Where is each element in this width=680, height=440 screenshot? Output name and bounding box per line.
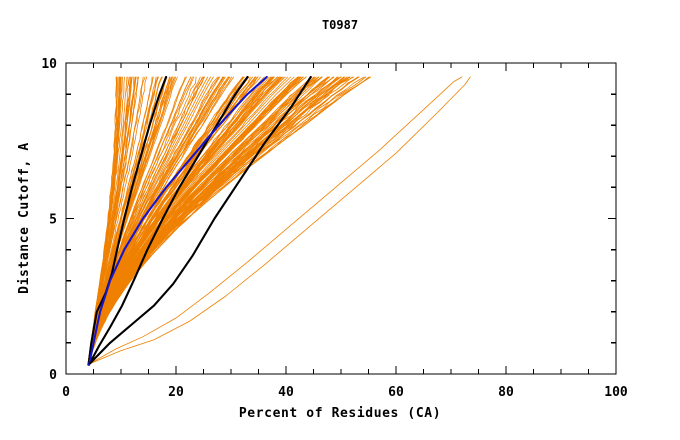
distance-cutoff-plot: T0987 0204060801000510 Percent of Residu… bbox=[0, 0, 680, 440]
x-tick-label: 0 bbox=[62, 385, 70, 400]
x-tick-label: 100 bbox=[604, 385, 628, 400]
x-tick-label: 20 bbox=[168, 385, 184, 400]
y-tick-label: 10 bbox=[41, 57, 57, 72]
x-tick-label: 60 bbox=[388, 385, 404, 400]
y-axis-title: Distance Cutoff, A bbox=[17, 142, 32, 294]
y-tick-label: 0 bbox=[49, 368, 57, 383]
x-tick-label: 40 bbox=[278, 385, 294, 400]
x-axis-title: Percent of Residues (CA) bbox=[239, 406, 441, 421]
x-tick-label: 80 bbox=[498, 385, 514, 400]
y-tick-label: 5 bbox=[49, 213, 57, 228]
page-title: T0987 bbox=[322, 18, 358, 32]
chart-page: T0987 0204060801000510 Percent of Residu… bbox=[0, 0, 680, 440]
